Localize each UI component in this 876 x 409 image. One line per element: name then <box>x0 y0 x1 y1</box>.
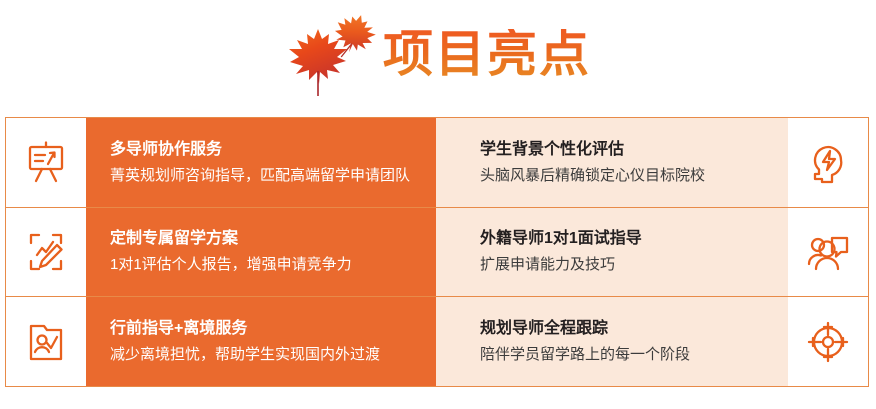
page-header: 项目亮点 <box>0 0 876 112</box>
highlight-card-right[interactable]: 学生背景个性化评估 头脑风暴后精确锁定心仪目标院校 <box>436 118 868 207</box>
highlight-row: 行前指导+离境服务 减少离境担忧，帮助学生实现国内外过渡 <box>6 297 868 386</box>
page-title: 项目亮点 <box>383 29 591 83</box>
highlights-grid: 多导师协作服务 菁英规划师咨询指导，匹配高端留学申请团队 学生背景个性化评估 头… <box>5 117 869 387</box>
maple-leaves-decoration <box>285 13 381 99</box>
people-speech-bubble-icon <box>788 208 868 297</box>
highlight-text: 规划导师全程跟踪 陪伴学员留学路上的每一个阶段 <box>436 297 788 386</box>
highlight-desc: 扩展申请能力及技巧 <box>480 254 778 277</box>
head-lightning-icon <box>788 118 868 207</box>
highlight-text: 多导师协作服务 菁英规划师咨询指导，匹配高端留学申请团队 <box>86 118 436 207</box>
highlight-text: 外籍导师1对1面试指导 扩展申请能力及技巧 <box>436 208 788 297</box>
highlight-title: 多导师协作服务 <box>110 138 424 162</box>
highlight-title: 定制专属留学方案 <box>110 227 424 251</box>
highlight-card-left[interactable]: 定制专属留学方案 1对1评估个人报告，增强申请竞争力 <box>6 208 436 297</box>
highlight-desc: 头脑风暴后精确锁定心仪目标院校 <box>480 165 778 188</box>
highlight-title: 学生背景个性化评估 <box>480 138 778 162</box>
highlight-desc: 1对1评估个人报告，增强申请竞争力 <box>110 254 424 277</box>
highlight-title: 外籍导师1对1面试指导 <box>480 227 778 251</box>
highlight-card-left[interactable]: 行前指导+离境服务 减少离境担忧，帮助学生实现国内外过渡 <box>6 297 436 386</box>
highlight-desc: 陪伴学员留学路上的每一个阶段 <box>480 344 778 367</box>
header-inner: 项目亮点 <box>285 11 591 101</box>
highlight-desc: 菁英规划师咨询指导，匹配高端留学申请团队 <box>110 165 424 188</box>
highlight-card-left[interactable]: 多导师协作服务 菁英规划师咨询指导，匹配高端留学申请团队 <box>6 118 436 207</box>
presentation-board-growth-icon <box>6 118 86 207</box>
highlight-row: 多导师协作服务 菁英规划师咨询指导，匹配高端留学申请团队 学生背景个性化评估 头… <box>6 118 868 208</box>
highlight-title: 行前指导+离境服务 <box>110 317 424 341</box>
highlight-text: 学生背景个性化评估 头脑风暴后精确锁定心仪目标院校 <box>436 118 788 207</box>
report-pencil-icon <box>6 208 86 297</box>
highlight-card-right[interactable]: 外籍导师1对1面试指导 扩展申请能力及技巧 <box>436 208 868 297</box>
highlight-desc: 减少离境担忧，帮助学生实现国内外过渡 <box>110 344 424 367</box>
folder-person-check-icon <box>6 297 86 386</box>
highlight-text: 定制专属留学方案 1对1评估个人报告，增强申请竞争力 <box>86 208 436 297</box>
highlight-row: 定制专属留学方案 1对1评估个人报告，增强申请竞争力 外籍导师1对1面试指导 <box>6 208 868 298</box>
highlights-page: 项目亮点 <box>0 0 876 409</box>
highlight-text: 行前指导+离境服务 减少离境担忧，帮助学生实现国内外过渡 <box>86 297 436 386</box>
target-crosshair-icon <box>788 297 868 386</box>
highlight-title: 规划导师全程跟踪 <box>480 317 778 341</box>
highlight-card-right[interactable]: 规划导师全程跟踪 陪伴学员留学路上的每一个阶段 <box>436 297 868 386</box>
